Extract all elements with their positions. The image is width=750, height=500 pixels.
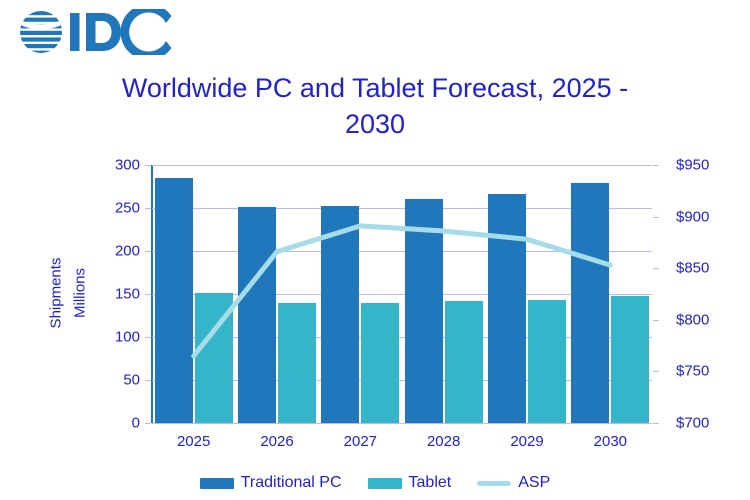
x-axis-tick-label: 2026 [260,433,293,450]
legend-item-asp[interactable]: ASP [477,474,550,492]
y-axis-tick [145,251,151,252]
y2-axis-tick [653,268,659,269]
asp-line [194,226,611,356]
y-axis-left-tick-label: 150 [96,286,140,303]
y-axis-right-tick-label: $850 [676,260,709,277]
y-axis-title: Shipments Millions [38,228,98,358]
y2-axis-tick [653,371,659,372]
y-axis-left-tick-label: 0 [96,415,140,432]
y-axis-right-tick-label: $700 [676,415,709,432]
y-axis-left-tick-label: 200 [96,243,140,260]
y-axis-tick [145,165,151,166]
x-axis-tick-label: 2027 [344,433,377,450]
y-axis-left-tick-label: 250 [96,200,140,217]
y-axis-left-tick-label: 50 [96,372,140,389]
legend-swatch-icon [477,481,511,486]
y-axis-tick [145,337,151,338]
chart-legend: Traditional PCTabletASP [0,474,750,492]
y2-axis-tick [653,165,659,166]
legend-label: Tablet [409,474,452,492]
globe-icon [18,11,66,55]
y-axis-left-tick-label: 100 [96,329,140,346]
chart-page: Worldwide PC and Tablet Forecast, 2025 -… [0,0,750,500]
x-axis-tick-label: 2029 [510,433,543,450]
legend-label: ASP [518,474,550,492]
y2-axis-tick [653,217,659,218]
plot-area: 050100150200250300 $700$750$800$850$900$… [152,165,652,423]
y2-axis-tick [653,320,659,321]
x-axis-tick-label: 2030 [594,433,627,450]
y-axis-tick [145,423,151,424]
idc-logo [18,8,188,56]
x-axis-tick-label: 2025 [177,433,210,450]
legend-swatch-icon [368,478,402,489]
legend-item-traditional-pc[interactable]: Traditional PC [200,474,342,492]
gridline [152,423,652,424]
chart-title: Worldwide PC and Tablet Forecast, 2025 -… [95,70,655,142]
y-axis-title-line-2: Millions [72,268,89,318]
y-axis-right-tick-label: $900 [676,208,709,225]
legend-item-tablet[interactable]: Tablet [368,474,452,492]
y-axis-tick [145,380,151,381]
y2-axis-tick [653,423,659,424]
y-axis-tick [145,208,151,209]
x-axis-tick-label: 2028 [427,433,460,450]
legend-label: Traditional PC [241,474,342,492]
y-axis-right-tick-label: $800 [676,311,709,328]
asp-line-series [152,165,652,423]
y-axis-title-line-1: Shipments [48,258,65,329]
y-axis-right-tick-label: $950 [676,157,709,174]
y-axis-tick [145,294,151,295]
y-axis-left-tick-label: 300 [96,157,140,174]
legend-swatch-icon [200,478,234,489]
idc-wordmark [70,9,172,55]
y-axis-right-tick-label: $750 [676,363,709,380]
